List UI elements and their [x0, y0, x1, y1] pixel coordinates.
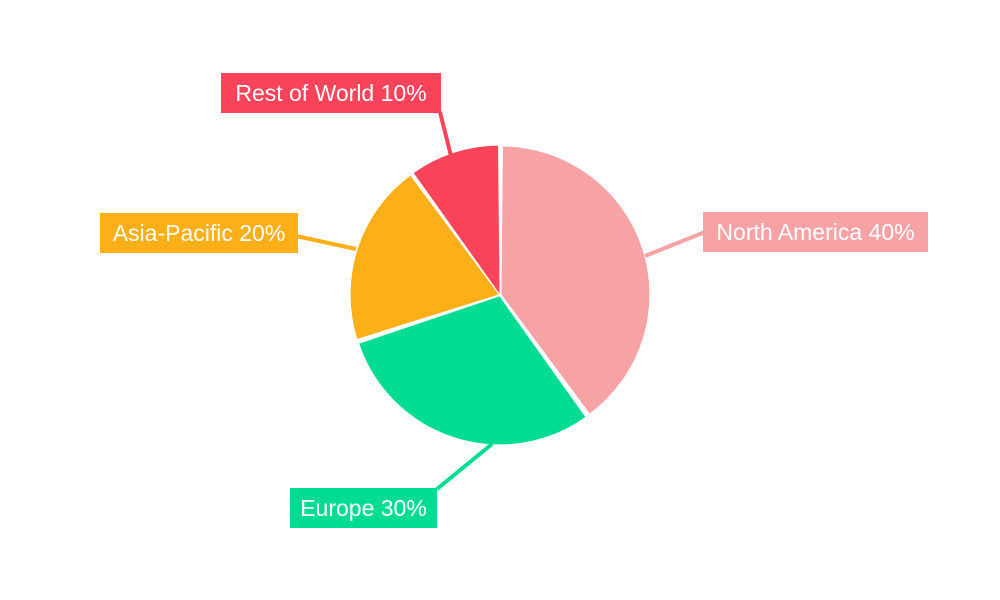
pie-label-europe: Europe 30%	[290, 488, 437, 528]
leader-line-asia-pacific	[296, 236, 356, 249]
leader-line-north-america	[645, 232, 705, 256]
pie-chart-figure: North America 40% Europe 30% Asia-Pacifi…	[0, 0, 1000, 600]
leader-line-europe	[437, 444, 492, 489]
pie-chart-canvas	[0, 0, 1000, 600]
pie-label-north-america: North America 40%	[703, 212, 928, 252]
pie-slices	[351, 146, 650, 445]
pie-label-rest-of-world: Rest of World 10%	[221, 73, 441, 113]
pie-label-asia-pacific: Asia-Pacific 20%	[100, 213, 298, 253]
